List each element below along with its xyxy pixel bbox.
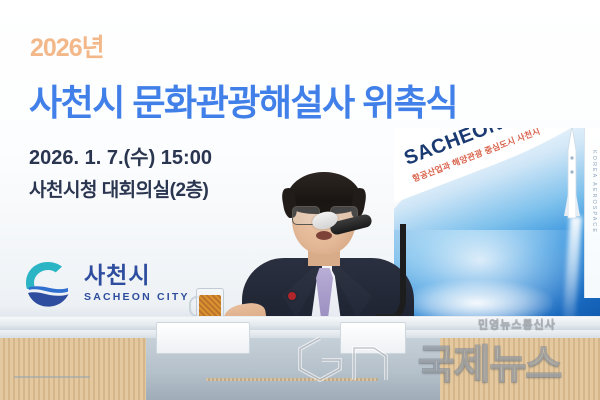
desk-edge	[0, 316, 600, 331]
nameplate	[156, 322, 250, 354]
microphone-gooseneck	[360, 224, 406, 326]
artwork-side-strip: KOREA AEROSPACE	[584, 128, 600, 298]
event-venue: 사천시청 대회의실(2층)	[29, 178, 212, 204]
sacheon-emblem-icon	[22, 258, 74, 308]
logo-english-name: SACHEON CITY	[84, 292, 190, 303]
rocket-icon	[564, 128, 580, 244]
panel-trim-strip	[206, 378, 378, 381]
event-date: 2026. 1. 7.(수) 15:00	[29, 145, 212, 172]
wood-panel-left	[0, 338, 148, 400]
logo-text-block: 사천시 SACHEON CITY	[84, 264, 190, 303]
sacheon-city-logo: 사천시 SACHEON CITY	[22, 258, 190, 308]
press-photo-scene: 2026년 사천시 문화관광해설사 위촉식 2026. 1. 7.(수) 15:…	[0, 0, 600, 400]
logo-korean-name: 사천시	[84, 264, 190, 287]
panel-trim-strip-secondary	[14, 376, 90, 378]
event-title: 사천시 문화관광해설사 위촉식	[29, 74, 457, 126]
microphone-icon	[312, 206, 400, 326]
year-label: 2026년	[30, 28, 104, 64]
lapel-pin-icon	[288, 292, 296, 300]
artwork-side-caption: KOREA AEROSPACE	[591, 150, 597, 234]
wood-panel-right	[440, 338, 600, 400]
nameplate	[340, 322, 406, 354]
event-meta: 2026. 1. 7.(수) 15:00 사천시청 대회의실(2층)	[29, 145, 212, 204]
